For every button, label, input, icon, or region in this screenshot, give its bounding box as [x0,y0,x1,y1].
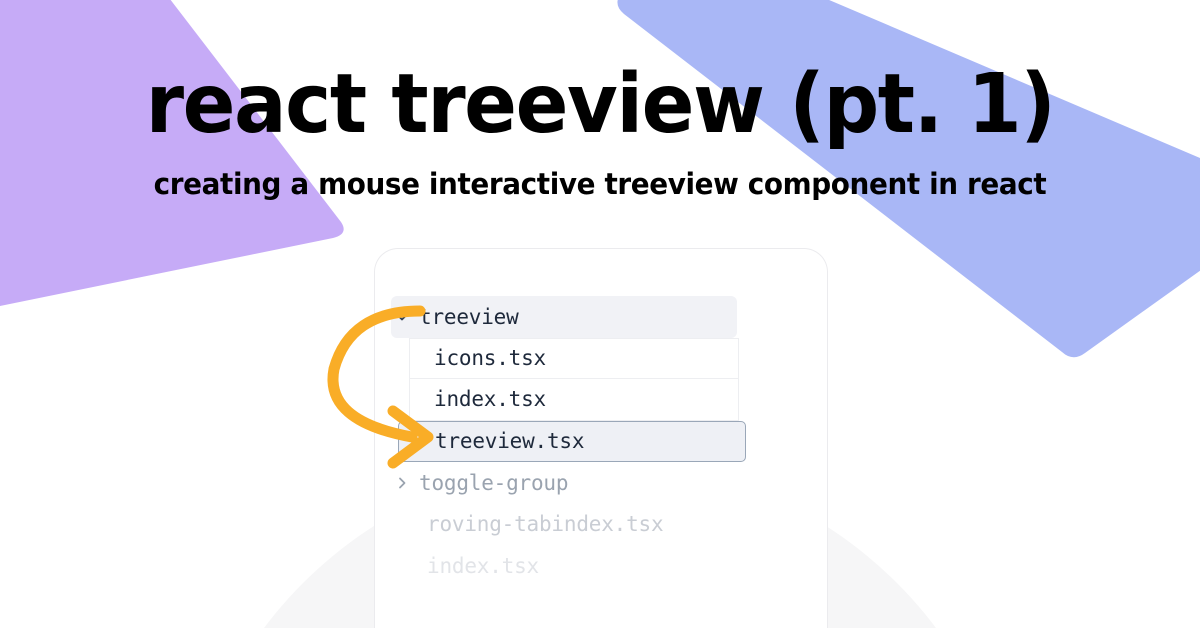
tree-item-roving-tabindex-tsx[interactable]: roving-tabindex.tsx [375,504,827,546]
tree-item-label: index.tsx [434,387,546,411]
tree-item-label: roving-tabindex.tsx [427,512,663,536]
tree-item-label: icons.tsx [434,346,546,370]
tree-item-label: toggle-group [419,471,568,495]
treeview-card: treeview icons.tsx index.tsx treeview.ts… [374,248,828,628]
chevron-down-icon[interactable] [391,306,413,328]
purple-shape [0,0,344,308]
page-title: react treeview (pt. 1) [30,62,1170,149]
tree-item-toggle-group[interactable]: toggle-group [375,462,827,504]
tree-item-treeview[interactable]: treeview [391,296,737,338]
tree-group-treeview-children: icons.tsx index.tsx treeview.tsx [409,338,739,463]
hero-text-block: react treeview (pt. 1) creating a mouse … [0,0,1200,202]
tree-item-label: treeview [419,305,519,329]
tree-item-index-tsx-2[interactable]: index.tsx [375,545,827,587]
page-subtitle: creating a mouse interactive treeview co… [24,167,1176,202]
tree-item-icons-tsx[interactable]: icons.tsx [410,338,738,380]
treeview-list[interactable]: treeview icons.tsx index.tsx treeview.ts… [375,296,827,587]
tree-item-treeview-tsx[interactable]: treeview.tsx [398,421,746,463]
chevron-right-icon[interactable] [391,472,413,494]
tree-item-label: index.tsx [427,554,539,578]
tree-item-label: treeview.tsx [435,429,584,453]
tree-item-index-tsx[interactable]: index.tsx [410,379,738,421]
